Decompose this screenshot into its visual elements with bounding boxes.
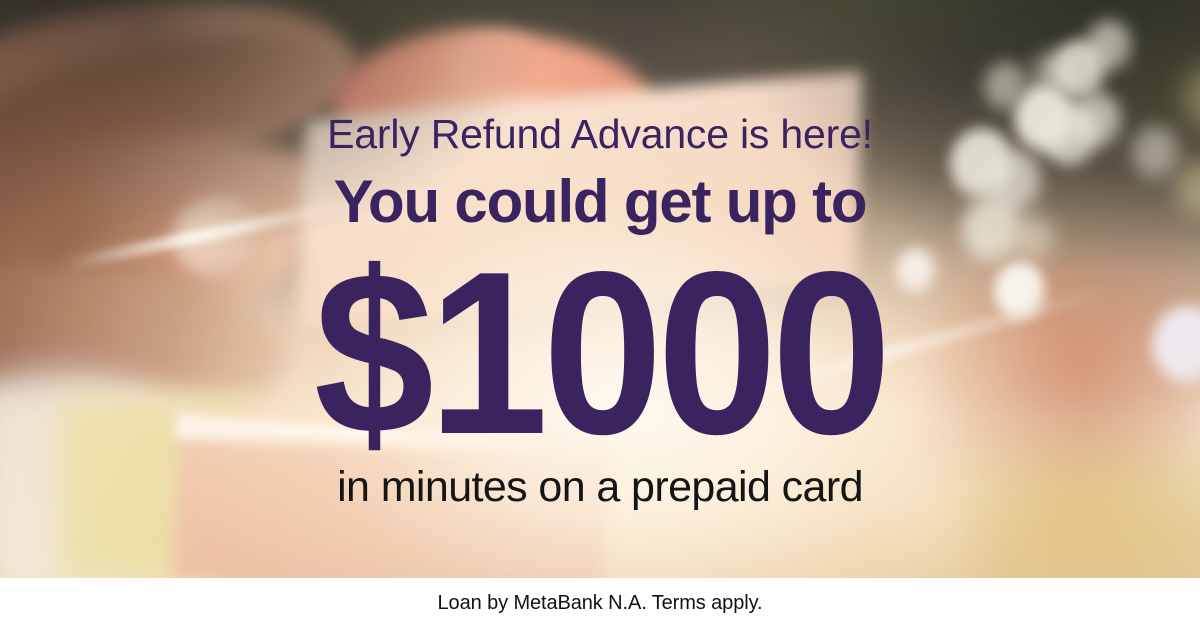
bokeh-light xyxy=(984,62,1028,111)
bokeh-light xyxy=(1032,52,1072,97)
bokeh-light xyxy=(994,262,1046,320)
bokeh-light xyxy=(1086,20,1132,72)
background-photo xyxy=(0,0,1200,578)
promo-banner: Early Refund Advance is here! You could … xyxy=(0,0,1200,628)
bokeh-light xyxy=(1042,104,1098,167)
disclaimer-text: Loan by MetaBank N.A. Terms apply. xyxy=(438,592,763,615)
bokeh-light xyxy=(1132,126,1180,180)
footer-bar: Loan by MetaBank N.A. Terms apply. xyxy=(0,578,1200,628)
bokeh-light xyxy=(896,248,936,293)
bokeh-light xyxy=(1010,214,1054,263)
